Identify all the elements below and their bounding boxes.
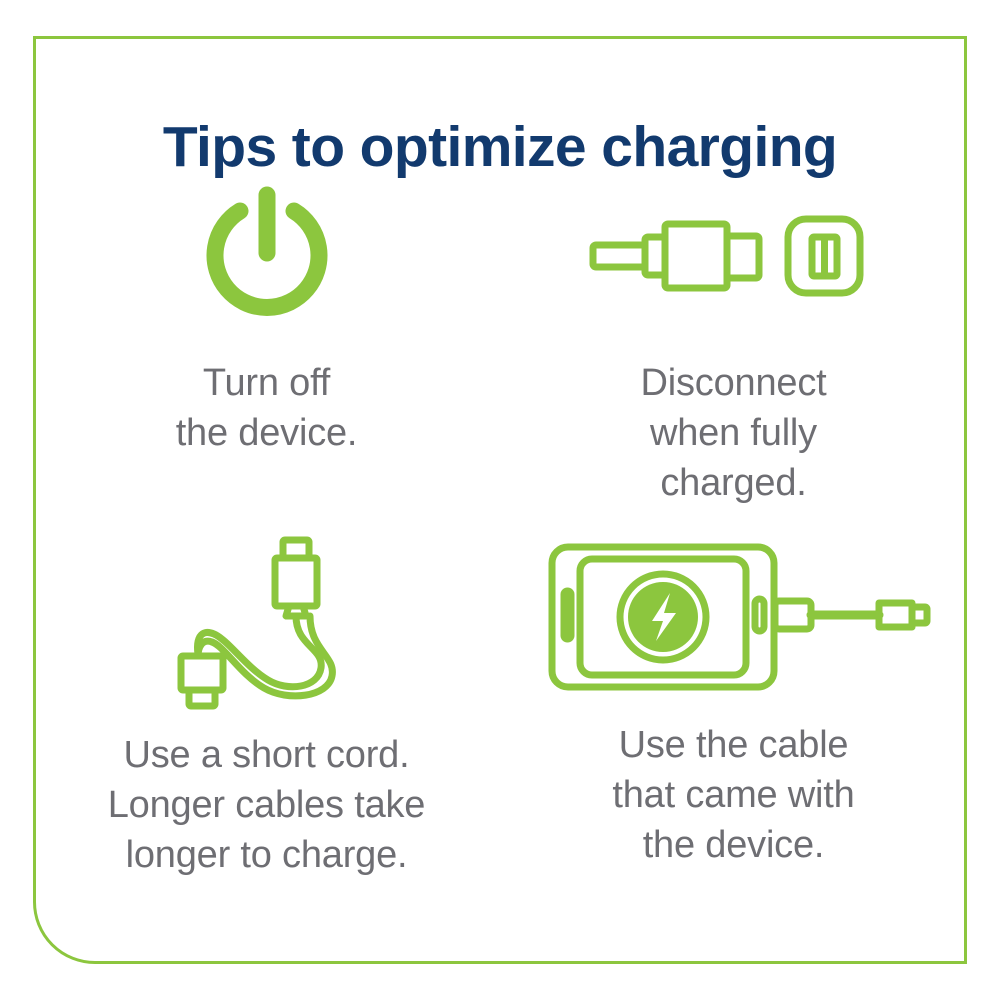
tip-icon-wrapper bbox=[589, 182, 879, 332]
tip-icon-wrapper bbox=[534, 536, 934, 698]
tip-caption: Disconnect when fully charged. bbox=[641, 358, 827, 508]
short-usb-cable-icon bbox=[176, 536, 358, 708]
tip-caption: Use a short cord. Longer cables take lon… bbox=[108, 730, 426, 880]
tip-icon-wrapper bbox=[176, 536, 358, 708]
tips-grid: Turn off the device. bbox=[33, 170, 967, 930]
tip-caption: Use the cable that came with the device. bbox=[612, 720, 854, 870]
tip-card-turn-off-device: Turn off the device. bbox=[33, 170, 500, 510]
tip-caption: Turn off the device. bbox=[176, 358, 358, 458]
usb-plug-disconnected-icon bbox=[589, 207, 879, 307]
infographic-card: Tips to optimize charging Turn off the d… bbox=[0, 0, 1000, 1000]
tip-card-disconnect-when-charged: Disconnect when fully charged. bbox=[500, 170, 967, 510]
phone-charging-cable-icon bbox=[534, 537, 934, 697]
tip-card-use-short-cord: Use a short cord. Longer cables take lon… bbox=[33, 510, 500, 870]
tip-card-use-original-cable: Use the cable that came with the device. bbox=[500, 510, 967, 870]
power-button-icon bbox=[199, 187, 335, 327]
tip-icon-wrapper bbox=[199, 182, 335, 332]
